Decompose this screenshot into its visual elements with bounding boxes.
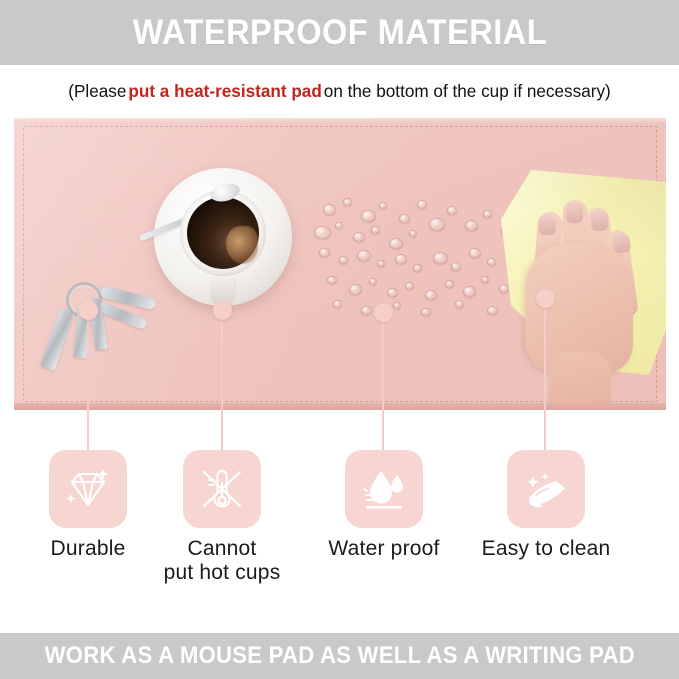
water-droplet — [395, 254, 407, 264]
water-droplet — [409, 230, 417, 237]
callout-dot-durable[interactable] — [79, 301, 98, 320]
water-droplet — [417, 200, 427, 209]
water-droplet — [319, 248, 330, 257]
callout-connector-line — [382, 321, 384, 450]
bottom-banner: WORK AS A MOUSE PAD AS WELL AS A WRITING… — [0, 633, 679, 679]
coffee-crema — [226, 226, 258, 264]
coffee-cup-object — [154, 168, 292, 306]
water-droplet — [371, 226, 380, 234]
water-droplet — [447, 206, 457, 215]
callout-dot-no-hot-cups[interactable] — [213, 301, 232, 320]
water-droplet — [487, 306, 498, 315]
callout-dot-water-proof[interactable] — [374, 303, 393, 322]
water-droplet — [451, 262, 461, 271]
water-drop-icon — [357, 462, 411, 516]
feature-no-hot-cups[interactable]: Cannot put hot cups — [142, 450, 302, 584]
water-droplet — [387, 288, 398, 297]
water-droplet — [361, 210, 376, 222]
subtitle-highlight: put a heat-resistant pad — [126, 81, 323, 102]
water-droplet — [469, 248, 481, 258]
mat-top-edge — [14, 118, 666, 123]
water-droplet — [314, 226, 331, 239]
infographic-page: WATERPROOF MATERIAL (Please put a heat-r… — [0, 0, 679, 679]
water-droplet — [463, 286, 476, 297]
subtitle-prefix: (Please — [68, 81, 126, 102]
key-blade — [40, 307, 74, 371]
water-droplet — [353, 232, 365, 242]
subtitle-note: (Please put a heat-resistant pad on the … — [7, 65, 672, 118]
feature-icon-tile — [183, 450, 261, 528]
water-droplet — [393, 302, 401, 309]
fingernail — [538, 214, 556, 235]
water-droplet — [481, 276, 489, 283]
cup-handle — [212, 276, 234, 302]
callout-connector-line — [221, 319, 223, 450]
water-droplet — [389, 238, 403, 249]
fingernail — [566, 203, 583, 223]
wipe-clean-icon — [519, 462, 573, 516]
water-droplets-object — [309, 196, 519, 316]
water-droplet — [377, 260, 385, 267]
water-droplet — [405, 282, 414, 290]
water-droplet — [433, 252, 448, 264]
water-droplet — [369, 278, 377, 285]
water-droplet — [465, 220, 478, 231]
water-droplet — [335, 222, 343, 229]
feature-icon-tile — [507, 450, 585, 528]
water-droplet — [333, 300, 342, 308]
feature-easy-to-clean[interactable]: Easy to clean — [466, 450, 626, 561]
feature-label-line2: put hot cups — [164, 561, 281, 584]
water-droplet — [413, 264, 422, 272]
feature-label: Water proof — [304, 537, 464, 561]
water-droplet — [379, 202, 387, 209]
mat-bottom-edge — [14, 403, 666, 410]
water-droplet — [399, 214, 410, 223]
wrist — [549, 352, 611, 410]
water-droplet — [499, 284, 509, 293]
no-hot-thermometer-icon — [195, 462, 249, 516]
water-droplet — [425, 290, 437, 300]
feature-water-proof[interactable]: Water proof — [304, 450, 464, 561]
water-droplet — [323, 204, 336, 215]
product-photo — [14, 118, 666, 410]
water-droplet — [343, 198, 352, 206]
callout-dot-easy-to-clean[interactable] — [536, 289, 555, 308]
water-droplet — [455, 300, 464, 308]
water-droplet — [327, 276, 337, 284]
feature-label: Cannot put hot cups — [142, 537, 302, 584]
footer-title: WORK AS A MOUSE PAD AS WELL AS A WRITING… — [44, 642, 634, 670]
water-droplet — [429, 218, 445, 231]
top-banner: WATERPROOF MATERIAL — [0, 0, 679, 65]
subtitle-suffix: on the bottom of the cup if necessary) — [324, 81, 611, 102]
water-droplet — [357, 250, 371, 261]
feature-icon-tile — [345, 450, 423, 528]
water-droplet — [361, 306, 372, 315]
callout-connector-line — [544, 307, 546, 450]
water-droplet — [421, 308, 431, 316]
keys-object — [46, 278, 166, 373]
water-droplet — [349, 284, 362, 295]
water-droplet — [445, 280, 454, 288]
feature-label: Easy to clean — [466, 537, 626, 561]
water-droplet — [483, 210, 492, 218]
water-droplet — [339, 256, 348, 264]
feature-list: Durable Cannot put hot cups — [0, 446, 679, 606]
feature-label-line1: Cannot — [188, 537, 257, 560]
page-title: WATERPROOF MATERIAL — [132, 13, 546, 53]
feature-icon-tile — [49, 450, 127, 528]
diamond-icon — [62, 463, 114, 515]
fingernail — [590, 211, 608, 232]
water-droplet — [487, 258, 496, 266]
callout-connector-line — [87, 319, 89, 450]
